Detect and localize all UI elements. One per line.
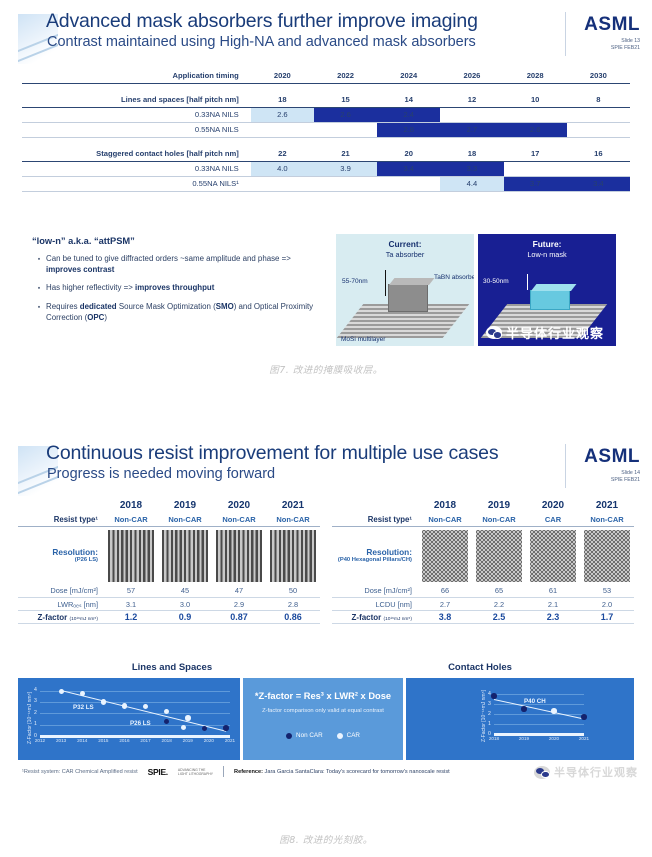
resolution-swatch — [266, 526, 320, 585]
x-tick-label: 2016 — [117, 738, 131, 743]
row-label: LWRₒₑₛ [nm] — [18, 598, 104, 611]
resist-type-row: Resist type¹Non-CARNon-CARCARNon-CAR — [332, 513, 634, 526]
resolution-swatch — [526, 526, 580, 585]
row-label: Dose [mJ/cm²] — [332, 585, 418, 598]
zfactor-value: 0.9 — [158, 611, 212, 624]
row-label: Dose [mJ/cm²] — [18, 585, 104, 598]
metric-value: 2.8 — [266, 598, 320, 611]
header-divider — [565, 12, 566, 56]
slide2-subtitle: Progress is needed moving forward — [47, 466, 275, 482]
figure8-caption: 图8. 改进的光刻胶。 — [0, 832, 652, 846]
year-header: 2018 — [104, 498, 158, 513]
legend-non-car: Non CAR — [286, 732, 323, 739]
pitch-value: 10 — [504, 92, 567, 107]
y-tick-label: 4 — [34, 687, 37, 693]
data-point — [164, 719, 169, 724]
pitch-value: 8 — [567, 92, 630, 107]
asml-logo: ASML — [584, 14, 640, 36]
slide-continuous-resist-improvement: Continuous resist improvement for multip… — [0, 440, 652, 810]
reference-text: Jara Garcia SantaClara: Today's scorecar… — [265, 769, 450, 775]
bullet-dot-icon: ▪ — [32, 282, 46, 294]
wechat-watermark: 半导体行业观察 — [534, 764, 638, 780]
current-subtitle: Ta absorber — [336, 250, 474, 259]
y-tick-label: 2 — [34, 710, 37, 716]
slide-advanced-mask-absorbers: Advanced mask absorbers further improve … — [0, 8, 652, 348]
slide2-number: Slide 14 — [611, 470, 640, 477]
year-header: 2024 — [377, 68, 440, 83]
legend-dot-icon — [286, 733, 292, 739]
y-tick-label: 3 — [488, 701, 491, 707]
nils-cell: 2.8 — [377, 122, 440, 137]
row-label: 0.33NA NILS — [22, 107, 251, 122]
year-header: 2026 — [440, 68, 503, 83]
metric-value: 53 — [580, 585, 634, 598]
metric-value: 47 — [212, 585, 266, 598]
footnote-resist-system: ¹Resist system: CAR Chemical Amplified r… — [22, 769, 138, 775]
y-tick-label: 1 — [488, 721, 491, 727]
year-header: 2021 — [580, 498, 634, 513]
resist-type-value: CAR — [526, 513, 580, 526]
chart-ylabel: Z-Factor [10⁻¹⁶mJ nm⁵] — [481, 688, 487, 742]
group-header-row: Staggered contact holes [half pitch nm]2… — [22, 146, 630, 161]
pitch-value: 20 — [377, 146, 440, 161]
metric-value: 65 — [472, 585, 526, 598]
nils-cell — [567, 161, 630, 176]
low-n-absorber-block-icon — [530, 290, 570, 310]
zfactor-value: 1.7 — [580, 611, 634, 624]
header-divider — [565, 444, 566, 488]
group-header-row: Lines and spaces [half pitch nm]18151412… — [22, 92, 630, 107]
resist-type-value: Non-CAR — [212, 513, 266, 526]
bullet-text: Can be tuned to give diffracted orders ~… — [46, 253, 322, 275]
spie-logo-subtitle: ADVANCING THELIGHT LITHOGRAPHY — [178, 768, 213, 776]
resolution-swatch — [472, 526, 526, 585]
bullet-item: ▪ Can be tuned to give diffracted orders… — [32, 253, 322, 275]
chart-title-lines-spaces: Lines and Spaces — [18, 662, 326, 673]
resolution-swatch — [418, 526, 472, 585]
metric-value: 2.0 — [580, 598, 634, 611]
slide2-meta: Slide 14 SPIE FEB21 — [611, 470, 640, 484]
nils-cell — [567, 122, 630, 137]
year-header: 2018 — [418, 498, 472, 513]
data-point — [185, 715, 190, 720]
bullet-item: ▪ Has higher reflectivity => improves th… — [32, 282, 322, 294]
nils-cell: 2.6 — [251, 107, 314, 122]
x-tick-label: 2012 — [33, 738, 47, 743]
x-axis — [494, 733, 584, 736]
future-title: Future: — [478, 239, 616, 249]
x-tick-label: 2020 — [202, 738, 216, 743]
current-mask-panel: Current: Ta absorber 55-70nm TaBN absorb… — [336, 234, 474, 346]
nils-cell — [314, 176, 377, 191]
zfactor-label: Z-factor (10¹⁶mJ nm⁵) — [18, 611, 104, 624]
resist-type-value: Non-CAR — [472, 513, 526, 526]
nils-cell: 2.6 — [314, 107, 377, 122]
charts-row: Z-Factor [10⁻¹⁶mJ nm⁵]012342012201320142… — [18, 678, 634, 760]
pitch-value: 17 — [504, 146, 567, 161]
resolution-row: Resolution:(P40 Hexagonal Pillars/CH) — [332, 526, 634, 585]
metric-value: 3.0 — [158, 598, 212, 611]
metric-value: 50 — [266, 585, 320, 598]
year-header: 2020 — [251, 68, 314, 83]
ta-absorber-block-icon — [388, 284, 428, 312]
x-tick-label: 2018 — [487, 736, 501, 741]
footer-divider — [223, 766, 224, 777]
gridline — [494, 694, 584, 695]
y-tick-label: 1 — [34, 721, 37, 727]
x-tick-label: 2019 — [181, 738, 195, 743]
resolution-sub: (P40 Hexagonal Pillars/CH) — [332, 557, 412, 564]
low-n-bullets: “low-n” a.k.a. “attPSM” ▪ Can be tuned t… — [32, 236, 322, 330]
nils-cell — [504, 107, 567, 122]
series-annotation: P26 LS — [130, 720, 151, 727]
data-point — [491, 693, 496, 698]
slide1-title: Advanced mask absorbers further improve … — [46, 10, 478, 33]
resist-type-value: Non-CAR — [266, 513, 320, 526]
future-mask-panel: Future: Low-n mask 30-50nm 半导体行业观察 — [478, 234, 616, 346]
series-annotation: P40 CH — [524, 698, 546, 705]
data-point — [143, 704, 148, 709]
wechat-icon — [486, 326, 502, 339]
nils-cell: 3.7 — [504, 176, 567, 191]
table-row: 0.55NA NILS2.82.72.6 — [22, 122, 630, 137]
resist-type-value: Non-CAR — [158, 513, 212, 526]
series-annotation: P32 LS — [73, 704, 94, 711]
resist-type-value: Non-CAR — [418, 513, 472, 526]
pitch-value: 18 — [440, 146, 503, 161]
spie-logo: SPIE. — [148, 767, 168, 777]
slide1-number: Slide 13 — [611, 38, 640, 45]
x-tick-label: 2021 — [223, 738, 237, 743]
gridline — [40, 702, 230, 703]
nils-cell: 3.4 — [567, 176, 630, 191]
x-tick-label: 2013 — [54, 738, 68, 743]
gridline — [40, 713, 230, 714]
metric-value: 2.9 — [212, 598, 266, 611]
zfactor-value: 2.5 — [472, 611, 526, 624]
nils-cell: 3.4 — [377, 161, 440, 176]
row-label: LCDU [nm] — [332, 598, 418, 611]
metric-value: 61 — [526, 585, 580, 598]
nils-cell — [567, 107, 630, 122]
year-header: 2030 — [567, 68, 630, 83]
bullet-item: ▪ Requires dedicated Source Mask Optimiz… — [32, 301, 322, 323]
current-title: Current: — [336, 239, 474, 249]
row-label: 0.33NA NILS — [22, 161, 251, 176]
data-point — [181, 725, 186, 730]
chart-lines-and-spaces: Z-Factor [10⁻¹⁶mJ nm⁵]012342012201320142… — [18, 678, 240, 760]
mask-absorber-diagram: Current: Ta absorber 55-70nm TaBN absorb… — [336, 234, 616, 346]
zfactor-row: Z-factor (10¹⁶mJ nm⁵)1.20.90.870.86 — [18, 611, 320, 624]
year-header: 2020 — [212, 498, 266, 513]
year-header: 2021 — [266, 498, 320, 513]
bullet-text: Requires dedicated Source Mask Optimizat… — [46, 301, 322, 323]
footer-reference: Reference: Jara Garcia SantaClara: Today… — [234, 769, 450, 775]
nils-cell: 3.9 — [314, 161, 377, 176]
year-header-row: 2018201920202021 — [18, 498, 320, 513]
legend-label: CAR — [347, 732, 360, 739]
bullet-dot-icon: ▪ — [32, 253, 46, 275]
year-header: 2019 — [472, 498, 526, 513]
future-thickness-label: 30-50nm — [483, 278, 509, 285]
pitch-value: 21 — [314, 146, 377, 161]
nils-cell: 2.7 — [440, 122, 503, 137]
resolution-row: Resolution:(P26 LS) — [18, 526, 320, 585]
resolution-swatch — [212, 526, 266, 585]
chart-legend: Non CAR CAR — [243, 732, 403, 739]
data-point — [521, 706, 526, 711]
reference-label: Reference: — [234, 769, 263, 775]
metric-value: 57 — [104, 585, 158, 598]
nils-cell — [377, 176, 440, 191]
resist-type-label: Resist type¹ — [332, 513, 418, 526]
data-point — [551, 708, 556, 713]
bullet-dot-icon: ▪ — [32, 301, 46, 323]
data-point — [202, 726, 207, 731]
bullet-text: Has higher reflectivity => improves thro… — [46, 282, 214, 294]
data-point — [101, 699, 106, 704]
table-row: 0.55NA NILS¹4.43.73.4 — [22, 176, 630, 191]
asml-logo: ASML — [584, 446, 640, 468]
pitch-value: 12 — [440, 92, 503, 107]
metric-value: 2.7 — [418, 598, 472, 611]
pitch-value: 14 — [377, 92, 440, 107]
x-tick-label: 2019 — [517, 736, 531, 741]
year-header: 2020 — [526, 498, 580, 513]
x-tick-label: 2015 — [96, 738, 110, 743]
slide2-conference: SPIE FEB21 — [611, 477, 640, 484]
contact-holes-table: 2018201920202021Resist type¹Non-CARNon-C… — [332, 498, 634, 624]
table-header-row: Application timing2020202220242026202820… — [22, 68, 630, 83]
x-tick-label: 2021 — [577, 736, 591, 741]
chart-contact-holes: Z-Factor [10⁻¹⁶mJ nm⁵]012342018201920202… — [406, 678, 634, 760]
resist-type-value: Non-CAR — [104, 513, 158, 526]
resolution-swatch — [158, 526, 212, 585]
legend-car: CAR — [337, 732, 360, 739]
zfactor-value: 0.86 — [266, 611, 320, 624]
year-header: 2028 — [504, 68, 567, 83]
nils-cell — [251, 122, 314, 137]
row-label: 0.55NA NILS — [22, 122, 251, 137]
year-header: 2022 — [314, 68, 377, 83]
zfactor-row: Z-factor (10¹⁶mJ nm⁵)3.82.52.31.7 — [332, 611, 634, 624]
metric-value: 2.1 — [526, 598, 580, 611]
x-tick-label: 2018 — [160, 738, 174, 743]
wechat-icon — [534, 766, 550, 779]
nils-cell — [251, 176, 314, 191]
chart-title-contact-holes: Contact Holes — [326, 662, 634, 673]
zfactor-value: 0.87 — [212, 611, 266, 624]
pitch-value: 15 — [314, 92, 377, 107]
pitch-value: 16 — [567, 146, 630, 161]
application-timing-label: Application timing — [22, 68, 251, 83]
zfactor-note: Z-factor comparison only valid at equal … — [251, 707, 395, 715]
bullets-heading: “low-n” a.k.a. “attPSM” — [32, 236, 322, 246]
resolution-label: Resolution:(P40 Hexagonal Pillars/CH) — [332, 526, 418, 585]
lines-and-spaces-table: 2018201920202021Resist type¹Non-CARNon-C… — [18, 498, 320, 624]
group-label: Staggered contact holes [half pitch nm] — [22, 146, 251, 161]
group-label: Lines and spaces [half pitch nm] — [22, 92, 251, 107]
future-subtitle: Low-n mask — [478, 250, 616, 259]
application-timing-table: Application timing2020202220242026202820… — [22, 68, 630, 192]
zfactor-label: Z-factor (10¹⁶mJ nm⁵) — [332, 611, 418, 624]
row-label: 0.55NA NILS¹ — [22, 176, 251, 191]
legend-dot-icon — [337, 733, 343, 739]
y-tick-label: 3 — [34, 698, 37, 704]
resolution-sub: (P26 LS) — [18, 557, 98, 564]
nils-cell: 4.0 — [251, 161, 314, 176]
nils-cell: 4.4 — [440, 176, 503, 191]
table-row: 0.33NA NILS2.62.62.4 — [22, 107, 630, 122]
zfactor-formula: *Z-factor = Res³ x LWR² x Dose — [243, 691, 403, 701]
table-row: LWRₒₑₛ [nm]3.13.02.92.8 — [18, 598, 320, 611]
x-tick-label: 2017 — [139, 738, 153, 743]
x-tick-label: 2020 — [547, 736, 561, 741]
zfactor-definition-box: *Z-factor = Res³ x LWR² x Dose Z-factor … — [243, 678, 403, 760]
gridline — [494, 724, 584, 725]
resolution-swatch — [104, 526, 158, 585]
thickness-arrow-icon — [527, 274, 528, 290]
table-row: Dose [mJ/cm²]57454750 — [18, 585, 320, 598]
tabn-absorber-label: TaBN absorber — [434, 274, 474, 282]
zfactor-value: 3.8 — [418, 611, 472, 624]
data-point — [223, 725, 228, 730]
legend-label: Non CAR — [296, 732, 323, 739]
current-base-label: MoSi multilayer — [341, 336, 385, 343]
table-row: 0.33NA NILS4.03.93.43.3 — [22, 161, 630, 176]
thickness-arrow-icon — [385, 270, 386, 296]
chart-ylabel: Z-Factor [10⁻¹⁶mJ nm⁵] — [27, 684, 33, 744]
metric-value: 3.1 — [104, 598, 158, 611]
metric-value: 66 — [418, 585, 472, 598]
chart-titles: Lines and Spaces Contact Holes — [18, 662, 634, 673]
nils-cell — [440, 107, 503, 122]
x-tick-label: 2014 — [75, 738, 89, 743]
resist-type-label: Resist type¹ — [18, 513, 104, 526]
current-thickness-label: 55-70nm — [342, 278, 368, 285]
nils-cell — [314, 122, 377, 137]
resist-type-value: Non-CAR — [580, 513, 634, 526]
year-header-row: 2018201920202021 — [332, 498, 634, 513]
resolution-swatch — [580, 526, 634, 585]
pitch-value: 18 — [251, 92, 314, 107]
pitch-value: 22 — [251, 146, 314, 161]
zfactor-value: 2.3 — [526, 611, 580, 624]
metric-value: 45 — [158, 585, 212, 598]
slide2-footer: ¹Resist system: CAR Chemical Amplified r… — [22, 766, 634, 777]
nils-cell: 2.6 — [504, 122, 567, 137]
watermark-text: 半导体行业观察 — [506, 323, 604, 342]
slide2-header: Continuous resist improvement for multip… — [0, 440, 652, 496]
data-point — [59, 689, 64, 694]
data-point — [581, 714, 586, 719]
resist-tables: 2018201920202021Resist type¹Non-CARNon-C… — [18, 498, 634, 624]
resist-type-row: Resist type¹Non-CARNon-CARNon-CARNon-CAR — [18, 513, 320, 526]
metric-value: 2.2 — [472, 598, 526, 611]
slide2-title: Continuous resist improvement for multip… — [46, 442, 498, 465]
wechat-watermark: 半导体行业观察 — [486, 323, 604, 342]
slide1-header: Advanced mask absorbers further improve … — [0, 8, 652, 64]
slide1-meta: Slide 13 SPIE FEB21 — [611, 38, 640, 52]
table-row: Dose [mJ/cm²]66656153 — [332, 585, 634, 598]
slide1-subtitle: Contrast maintained using High-NA and ad… — [47, 34, 476, 50]
slide1-conference: SPIE FEB21 — [611, 45, 640, 52]
resolution-label: Resolution:(P26 LS) — [18, 526, 104, 585]
year-header: 2019 — [158, 498, 212, 513]
figure7-caption: 图7. 改进的掩膜吸收层。 — [0, 362, 652, 376]
nils-cell — [504, 161, 567, 176]
table-row: LCDU [nm]2.72.22.12.0 — [332, 598, 634, 611]
y-tick-label: 2 — [488, 711, 491, 717]
nils-cell: 3.3 — [440, 161, 503, 176]
zfactor-value: 1.2 — [104, 611, 158, 624]
nils-cell: 2.4 — [377, 107, 440, 122]
data-point — [122, 703, 127, 708]
watermark-text: 半导体行业观察 — [554, 764, 638, 780]
